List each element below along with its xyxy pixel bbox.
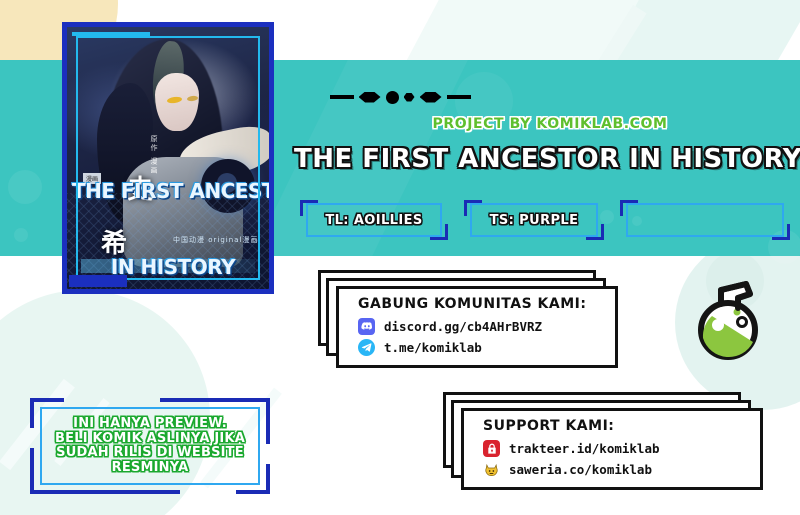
cover-title-line-1: THE FIRST ANCESTOR — [72, 179, 274, 203]
decor-band-dot-2 — [14, 228, 28, 242]
komiklab-flask-logo — [690, 278, 776, 362]
cover-artwork — [67, 27, 269, 289]
credit-label-translator: TL: AOILLIES — [325, 213, 422, 228]
community-title: GABUNG KOMUNITAS KAMI: — [358, 296, 602, 312]
discord-icon — [358, 318, 375, 335]
decor-band-dot-1 — [8, 170, 42, 204]
project-by-label: PROJECT BY KOMIKLAB.COM — [310, 116, 790, 132]
cover-corner-tab — [69, 275, 127, 287]
support-panel: SUPPORT KAMI: trakteer.id/komiklab sawer — [443, 392, 763, 490]
credit-label-typesetter: TS: PURPLE — [490, 213, 579, 228]
support-link-trakteer[interactable]: trakteer.id/komiklab — [483, 440, 747, 457]
support-content: SUPPORT KAMI: trakteer.id/komiklab sawer — [483, 418, 747, 474]
support-link-text-trakteer: trakteer.id/komiklab — [509, 441, 660, 456]
comic-cover: 漫画 史 希 原作 漫画 中国动漫 original漫画 THE FIRST A… — [62, 22, 274, 294]
community-link-discord[interactable]: discord.gg/cb4AHrBVRZ — [358, 318, 602, 335]
preview-line-3: SUDAH RILIS DI WEBSITE — [42, 446, 258, 461]
decor-band-dot-3 — [14, 256, 26, 268]
cover-frame: 漫画 史 希 原作 漫画 中国动漫 original漫画 THE FIRST A… — [62, 22, 274, 294]
preview-line-1: INI HANYA PREVIEW. — [42, 417, 258, 432]
community-link-text-telegram: t.me/komiklab — [384, 340, 482, 355]
support-title: SUPPORT KAMI: — [483, 418, 747, 434]
preview-notice: INI HANYA PREVIEW. BELI KOMIK ASLINYA JI… — [30, 398, 270, 494]
support-link-saweria[interactable]: saweria.co/komiklab — [483, 461, 747, 478]
ornament-line-right — [447, 95, 471, 99]
cover-cn-vertical: 原作 漫画 — [149, 135, 159, 175]
ornament-diamond-left — [359, 92, 381, 103]
ornament-diamond-small — [404, 93, 415, 102]
credit-box-translator[interactable]: TL: AOILLIES — [300, 200, 448, 240]
page-title: THE FIRST ANCESTOR IN HISTORY — [294, 144, 794, 174]
ornament-circle — [386, 91, 399, 104]
cover-cn-subtitle: 中国动漫 original漫画 — [173, 235, 258, 245]
credit-frame — [626, 203, 784, 237]
ornament-diamond-right — [420, 92, 442, 103]
trakteer-icon — [483, 440, 500, 457]
credits-row: TL: AOILLIES TS: PURPLE — [300, 200, 790, 242]
community-link-text-discord: discord.gg/cb4AHrBVRZ — [384, 319, 542, 334]
preview-notice-text: INI HANYA PREVIEW. BELI KOMIK ASLINYA JI… — [42, 417, 258, 475]
credit-box-typesetter[interactable]: TS: PURPLE — [464, 200, 604, 240]
ornament-line-left — [330, 95, 354, 99]
diamond-divider-ornament — [0, 86, 800, 108]
saweria-icon — [483, 461, 500, 478]
preview-line-2: BELI KOMIK ASLINYA JIKA — [42, 432, 258, 447]
community-panel: GABUNG KOMUNITAS KAMI: discord.gg/cb4AHr… — [318, 270, 618, 368]
credits-page: 漫画 史 希 原作 漫画 中国动漫 original漫画 THE FIRST A… — [0, 0, 800, 515]
community-link-telegram[interactable]: t.me/komiklab — [358, 339, 602, 356]
preview-line-4: RESMINYA — [42, 461, 258, 476]
credit-box-empty[interactable] — [620, 200, 790, 240]
support-link-text-saweria: saweria.co/komiklab — [509, 462, 652, 477]
community-content: GABUNG KOMUNITAS KAMI: discord.gg/cb4AHr… — [358, 296, 602, 352]
telegram-icon — [358, 339, 375, 356]
